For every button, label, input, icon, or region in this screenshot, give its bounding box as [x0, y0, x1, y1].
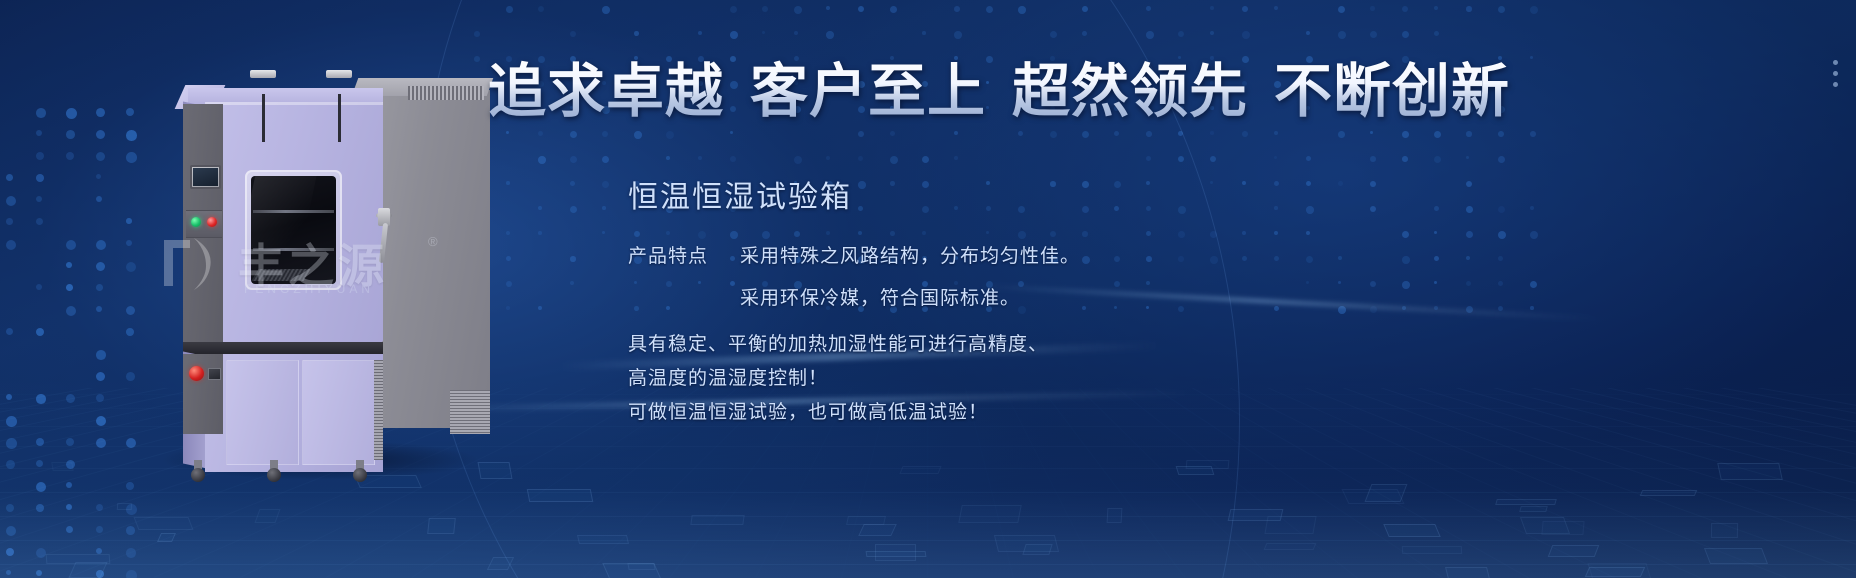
decorative-dot	[762, 31, 765, 34]
circuit-chip-block	[577, 535, 629, 544]
circuit-chip-block	[1520, 517, 1570, 534]
decorative-dot	[730, 156, 736, 162]
decorative-dot	[826, 156, 830, 160]
decorative-dot	[1370, 156, 1376, 162]
decorative-dot	[730, 31, 738, 39]
controller-screen	[193, 168, 218, 186]
decorative-dot	[1370, 6, 1375, 11]
decorative-dot	[570, 181, 575, 186]
decorative-dot	[602, 6, 610, 14]
decorative-dot	[1338, 31, 1346, 39]
scroll-pip-1[interactable]	[1833, 60, 1838, 65]
decorative-dot	[1338, 281, 1341, 284]
decorative-dot	[506, 181, 510, 185]
decorative-dot	[1434, 231, 1437, 234]
decorative-dot	[538, 6, 544, 12]
decorative-dot	[1338, 181, 1343, 186]
decorative-dot	[570, 131, 577, 138]
decorative-dot	[1242, 231, 1246, 235]
decorative-dot	[1210, 181, 1213, 184]
base-door-slot-left	[262, 94, 265, 142]
circuit-chip-block	[51, 462, 73, 471]
scroll-indicator[interactable]	[1833, 60, 1838, 87]
decorative-dot	[506, 281, 512, 287]
decorative-dot	[1466, 156, 1469, 159]
decorative-dot	[858, 181, 866, 189]
machine-rear-vent	[408, 86, 484, 100]
headline-segment-1: 追求卓越	[488, 59, 724, 124]
decorative-dot	[1466, 6, 1472, 12]
decorative-dot	[1146, 6, 1151, 11]
decorative-dot	[96, 262, 105, 271]
glass-reflection	[251, 176, 319, 284]
decorative-dot	[634, 131, 642, 139]
circuit-chip-block	[899, 466, 941, 474]
floor-grid-line-horizontal	[0, 564, 1856, 565]
decorative-dot	[1306, 256, 1313, 263]
decorative-dot	[96, 152, 105, 161]
decorative-dot	[126, 218, 132, 224]
decorative-dot	[1466, 131, 1472, 137]
decorative-dot	[1114, 206, 1119, 211]
decorative-dot	[1018, 231, 1026, 239]
circuit-chip-block	[134, 517, 194, 530]
decorative-dot	[794, 156, 802, 164]
decorative-dot	[570, 31, 576, 37]
circuit-chip-block	[427, 518, 456, 534]
base-door-slot-right	[338, 94, 341, 142]
decorative-dot	[96, 108, 105, 117]
decorative-dot	[474, 31, 480, 37]
decorative-dot	[698, 231, 706, 239]
decorative-dot	[96, 350, 106, 360]
base-door-right	[302, 360, 375, 465]
decorative-dot	[1146, 31, 1154, 39]
circuit-chip-block	[1342, 489, 1405, 504]
circuit-chip-block	[1107, 508, 1123, 523]
feature-line-5: 可做恒温恒湿试验，也可做高低温试验！	[628, 396, 1248, 430]
caster-wheel-2	[267, 468, 281, 482]
decorative-dot	[66, 284, 73, 291]
decorative-dot	[96, 284, 103, 291]
circuit-chip-block	[1495, 499, 1557, 505]
decorative-dot	[922, 206, 929, 213]
circuit-chip-block	[958, 505, 1021, 523]
decorative-dot	[538, 131, 543, 136]
decorative-dot	[1498, 156, 1505, 163]
decorative-dot	[1338, 256, 1342, 260]
decorative-dot	[570, 281, 574, 285]
decorative-dot	[1274, 256, 1279, 261]
scroll-pip-2[interactable]	[1833, 71, 1838, 76]
decorative-dot	[1274, 306, 1279, 311]
decorative-dot	[1210, 231, 1217, 238]
decorative-dot	[954, 131, 958, 135]
circuit-chip-block	[1445, 567, 1491, 578]
decorative-dot	[858, 231, 862, 235]
decorative-dot	[1306, 231, 1310, 235]
decorative-dot	[538, 206, 542, 210]
decorative-dot	[1018, 131, 1023, 136]
decorative-dot	[1274, 131, 1278, 135]
decorative-dot	[1306, 181, 1311, 186]
decorative-dot	[1082, 206, 1089, 213]
decorative-dot	[1146, 231, 1151, 236]
decorative-dot	[1082, 181, 1089, 188]
circuit-chip-block	[1383, 524, 1441, 537]
decorative-dot	[506, 6, 513, 13]
decorative-dot	[666, 156, 670, 160]
decorative-dot	[1530, 281, 1537, 288]
decorative-dot	[36, 174, 44, 182]
decorative-dot	[1370, 281, 1376, 287]
circuit-chip-block	[690, 515, 744, 525]
decorative-dot	[1498, 306, 1503, 311]
decorative-dot	[1306, 206, 1314, 214]
decorative-dot	[602, 156, 609, 163]
base-door-left	[226, 360, 299, 465]
decorative-dot	[1146, 206, 1151, 211]
decorative-dot	[1242, 181, 1246, 185]
indicator-light-green	[191, 217, 201, 227]
decorative-dot	[126, 306, 135, 315]
decorative-dot	[1370, 31, 1377, 38]
decorative-dot	[126, 240, 132, 246]
decorative-dot	[1434, 31, 1439, 36]
decorative-dot	[1434, 131, 1441, 138]
decorative-dot	[506, 256, 511, 261]
decorative-dot	[36, 196, 42, 202]
decorative-dot	[1082, 231, 1088, 237]
decorative-dot	[1370, 206, 1376, 212]
base-door-pull-left	[250, 70, 276, 78]
decorative-dot	[1178, 31, 1184, 37]
decorative-dot	[6, 196, 16, 206]
circuit-chip-block	[117, 503, 132, 510]
decorative-dot	[954, 6, 960, 12]
decorative-dot	[890, 6, 897, 13]
decorative-dot	[1370, 181, 1376, 187]
circuit-chip-block	[46, 554, 111, 564]
feature-line-1: 采用特殊之风路结构，分布均匀性佳。	[740, 240, 1080, 274]
decorative-dot	[6, 174, 13, 181]
caster-wheel-1	[191, 468, 205, 482]
decorative-dot	[36, 152, 44, 160]
features-label: 产品特点	[628, 240, 740, 274]
circuit-chip-block	[846, 516, 886, 525]
circuit-chip-block	[254, 509, 280, 523]
decorative-dot	[506, 131, 509, 134]
decorative-dot	[986, 6, 993, 13]
decorative-dot	[602, 231, 605, 234]
decorative-dot	[858, 6, 864, 12]
decorative-dot	[1338, 131, 1345, 138]
decorative-dot	[1178, 131, 1183, 136]
decorative-dot	[570, 206, 577, 213]
decorative-dot	[538, 156, 546, 164]
decorative-dot	[634, 231, 640, 237]
base-side-mesh	[374, 360, 383, 460]
indicator-light-red	[207, 217, 217, 227]
circuit-chip-block	[1717, 463, 1783, 480]
decorative-dot	[36, 328, 44, 336]
decorative-dot	[1466, 181, 1472, 187]
decorative-dot	[570, 156, 577, 163]
decorative-dot	[1210, 31, 1214, 35]
decorative-dot	[1178, 231, 1185, 238]
decorative-dot	[6, 240, 16, 250]
decorative-dot	[66, 306, 76, 316]
decorative-dot	[1402, 6, 1408, 12]
circuit-chip-block	[1176, 466, 1215, 475]
decorative-dot	[698, 31, 702, 35]
decorative-dot	[762, 231, 770, 239]
circuit-chip-block	[866, 551, 927, 557]
decorative-dot	[794, 6, 802, 14]
decorative-dot	[1178, 156, 1184, 162]
decorative-dot	[96, 196, 102, 202]
decorative-dot	[538, 306, 542, 310]
decorative-dot	[36, 218, 43, 225]
decorative-dot	[986, 231, 989, 234]
decorative-dot	[1050, 131, 1057, 138]
decorative-dot	[602, 206, 606, 210]
decorative-dot	[602, 131, 608, 137]
decorative-dot	[1498, 281, 1503, 286]
decorative-dot	[1306, 281, 1309, 284]
decorative-dot	[1402, 256, 1410, 264]
decorative-dot	[1050, 231, 1056, 237]
decorative-dot	[1434, 306, 1438, 310]
decorative-dot	[890, 181, 895, 186]
decorative-dot	[1498, 231, 1506, 239]
circuit-chip-block	[527, 489, 594, 502]
decorative-dot	[1210, 131, 1214, 135]
machine-rear-side-vent	[450, 390, 490, 434]
decorative-dot	[1018, 206, 1025, 213]
decorative-dot	[1530, 306, 1534, 310]
decorative-dot	[1274, 156, 1277, 159]
decorative-dot	[794, 231, 800, 237]
decorative-dot	[922, 31, 926, 35]
decorative-dot	[1530, 231, 1538, 239]
decorative-dot	[506, 231, 510, 235]
decorative-dot	[1402, 31, 1409, 38]
product-title: 恒温恒湿试验箱	[628, 178, 852, 218]
headline-segment-4: 不断创新	[1274, 59, 1510, 124]
decorative-dot	[858, 156, 863, 161]
decorative-dot	[36, 108, 46, 118]
decorative-dot	[922, 231, 926, 235]
feature-line-3: 具有稳定、平衡的加热加湿性能可进行高精度、	[628, 328, 1248, 362]
decorative-dot	[1434, 206, 1439, 211]
decorative-dot	[858, 131, 864, 137]
feature-row-first: 产品特点 采用特殊之风路结构，分布均匀性佳。	[628, 240, 1248, 274]
decorative-dot	[762, 6, 768, 12]
decorative-dot	[1338, 6, 1345, 13]
decorative-dot	[1146, 181, 1150, 185]
decorative-dot	[96, 130, 105, 139]
decorative-dot	[1530, 56, 1533, 59]
decorative-dot	[96, 306, 102, 312]
decorative-dot	[826, 6, 830, 10]
decorative-dot	[826, 31, 834, 39]
feature-line-2: 采用环保冷媒，符合国际标准。	[628, 282, 1248, 316]
decorative-dot	[1082, 6, 1088, 12]
decorative-dot	[538, 231, 542, 235]
decorative-dot	[1210, 6, 1214, 10]
floor-grid-line-horizontal	[0, 540, 1856, 541]
decorative-dot	[126, 262, 136, 272]
decorative-dot	[1434, 256, 1439, 261]
decorative-dot	[126, 108, 134, 116]
emergency-stop-button	[189, 366, 204, 381]
decorative-dot	[730, 231, 738, 239]
feature-spacer	[628, 316, 1248, 328]
decorative-dot	[1402, 281, 1410, 289]
decorative-dot	[1402, 131, 1409, 138]
decorative-dot	[1242, 31, 1250, 39]
decorative-dot	[36, 130, 42, 136]
decorative-dot	[986, 206, 991, 211]
base-door-pull-right	[326, 70, 352, 78]
decorative-dot	[1274, 231, 1278, 235]
banner-headline: 追求卓越客户至上超然领先不断创新	[488, 56, 1518, 128]
decorative-dot	[96, 240, 106, 250]
circuit-chip-block	[602, 563, 662, 578]
cabinet-base-divider	[183, 342, 383, 354]
decorative-dot	[634, 31, 639, 36]
decorative-dot	[66, 108, 77, 119]
cabinet-front-edge	[205, 102, 383, 105]
circuit-chip-block	[1519, 506, 1548, 512]
base-meter-display	[208, 368, 221, 380]
product-image-test-chamber	[150, 60, 500, 480]
circuit-chip-block	[1264, 543, 1317, 550]
circuit-chip-block	[1228, 509, 1284, 521]
decorative-dot	[126, 130, 137, 141]
decorative-dot	[6, 328, 13, 335]
decorative-dot	[1274, 6, 1278, 10]
decorative-dot	[890, 231, 895, 236]
decorative-dot	[1402, 231, 1409, 238]
viewing-window-glass	[251, 176, 336, 284]
floor-grid-line-horizontal	[0, 516, 1856, 517]
base-control-column	[183, 354, 223, 434]
decorative-dot	[66, 152, 74, 160]
decorative-dot	[1530, 206, 1534, 210]
decorative-dot	[922, 156, 929, 163]
decorative-dot	[1114, 181, 1121, 188]
decorative-dot	[6, 218, 13, 225]
decorative-dot	[126, 328, 134, 336]
decorative-dot	[698, 156, 702, 160]
decorative-dot	[1146, 156, 1151, 161]
decorative-dot	[1050, 31, 1057, 38]
decorative-dot	[730, 131, 733, 134]
circuit-chip-block	[1711, 523, 1738, 538]
scroll-pip-3[interactable]	[1833, 82, 1838, 87]
decorative-dot	[794, 31, 798, 35]
decorative-dot	[1306, 31, 1310, 35]
decorative-dot	[1530, 131, 1536, 137]
decorative-dot	[1402, 156, 1408, 162]
decorative-dot	[1082, 131, 1089, 138]
decorative-dot	[1114, 131, 1119, 136]
decorative-dot	[890, 131, 895, 136]
decorative-dot	[858, 206, 863, 211]
decorative-dot	[1498, 6, 1505, 13]
circuit-chip-block	[858, 524, 897, 536]
decorative-dot	[1466, 306, 1473, 313]
decorative-dot	[1498, 256, 1503, 261]
decorative-dot	[1338, 306, 1346, 314]
decorative-dot	[1530, 6, 1538, 14]
decorative-dot	[96, 372, 105, 381]
decorative-dot	[1242, 6, 1248, 12]
decorative-dot	[96, 174, 101, 179]
decorative-dot	[66, 240, 76, 250]
decorative-dot	[570, 256, 576, 262]
decorative-dot	[1306, 156, 1311, 161]
decorative-dot	[1370, 131, 1373, 134]
decorative-dot	[666, 131, 674, 139]
decorative-dot	[602, 181, 609, 188]
decorative-dot	[954, 156, 958, 160]
decorative-dot	[1082, 31, 1087, 36]
decorative-dot	[126, 152, 137, 163]
circuit-chip-block	[1585, 567, 1645, 577]
decorative-dot	[1434, 281, 1437, 284]
decorative-dot	[1434, 156, 1441, 163]
decorative-dot	[1210, 156, 1216, 162]
feature-line-4: 高温度的温湿度控制！	[628, 362, 1248, 396]
caster-wheel-3	[353, 468, 367, 482]
decorative-dot	[1274, 206, 1278, 210]
decorative-dot	[1146, 131, 1152, 137]
headline-segment-3: 超然领先	[1012, 59, 1248, 124]
decorative-dot	[890, 156, 898, 164]
circuit-chip-block	[1022, 544, 1052, 555]
decorative-dot	[126, 372, 135, 381]
circuit-chip-block	[1640, 490, 1698, 496]
decorative-dot	[954, 206, 958, 210]
decorative-dot	[1242, 131, 1248, 137]
decorative-dot	[986, 181, 990, 185]
decorative-dot	[1466, 281, 1471, 286]
circuit-chip-block	[1402, 546, 1462, 554]
decorative-dot	[826, 231, 830, 235]
decorative-dot	[1274, 181, 1279, 186]
decorative-dot	[1434, 6, 1438, 10]
decorative-dot	[922, 181, 929, 188]
decorative-dot	[730, 6, 737, 13]
product-features-block: 产品特点 采用特殊之风路结构，分布均匀性佳。 采用环保冷媒，符合国际标准。 具有…	[628, 240, 1248, 430]
headline-segment-2: 客户至上	[750, 59, 986, 124]
decorative-dot	[1498, 131, 1504, 137]
decorative-dot	[66, 262, 72, 268]
decorative-dot	[1370, 306, 1377, 313]
decorative-dot	[1050, 181, 1056, 187]
decorative-dot	[1402, 306, 1406, 310]
decorative-dot	[954, 31, 962, 39]
decorative-dot	[1178, 206, 1186, 214]
decorative-dot	[36, 284, 42, 290]
circuit-chip-block	[1704, 548, 1768, 564]
decorative-dot	[666, 231, 670, 235]
circuit-chip-block	[68, 562, 107, 578]
circuit-chip-block	[1548, 545, 1600, 557]
